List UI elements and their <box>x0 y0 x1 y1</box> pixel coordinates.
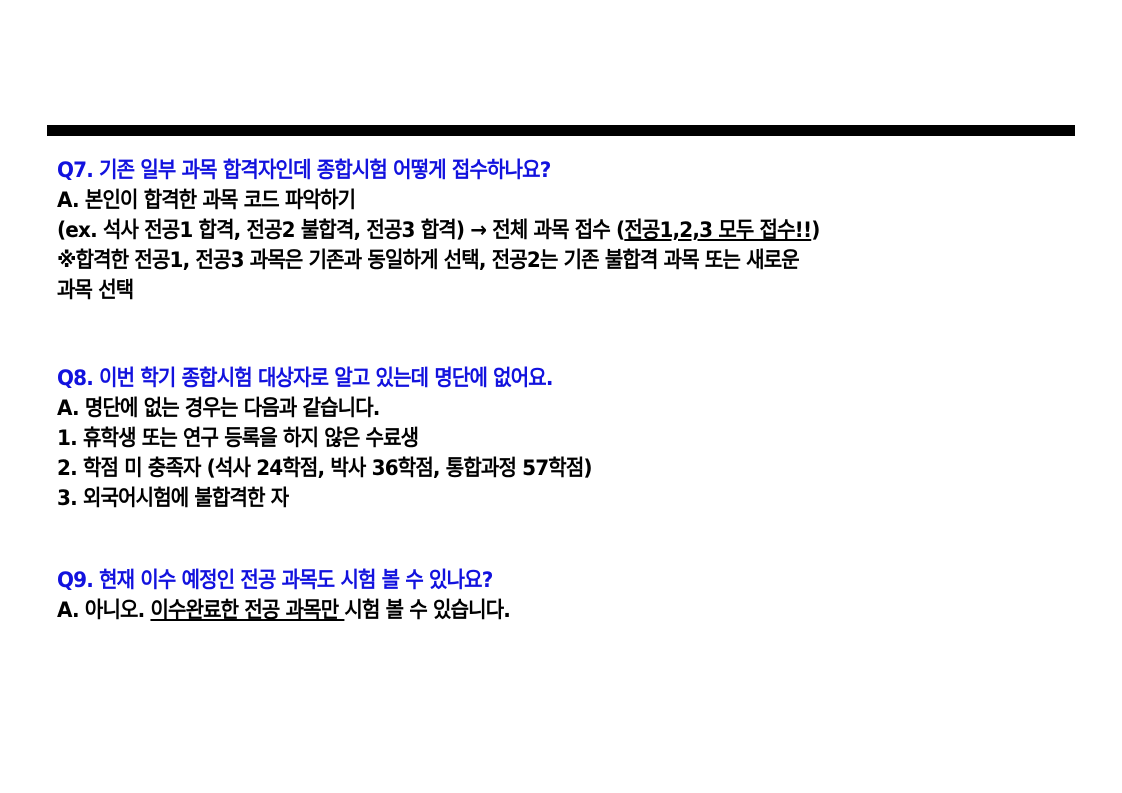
answer-seg-underlined: 이수완료한 전공 과목만 <box>150 598 344 623</box>
answer-seg-underlined: 전공1,2,3 모두 접수!! <box>624 218 811 243</box>
answer-line-q7-2: (ex. 석사 전공1 합격, 전공2 불합격, 전공3 합격) → 전체 과목… <box>57 216 1015 246</box>
answer-line-q7-3: ※합격한 전공1, 전공3 과목은 기존과 동일하게 선택, 전공2는 기존 불… <box>57 246 1015 276</box>
qa-block-q8: Q8. 이번 학기 종합시험 대상자로 알고 있는데 명단에 없어요. A. 명… <box>57 364 1087 514</box>
answer-line-q8-3: 2. 학점 미 충족자 (석사 24학점, 박사 36학점, 통합과정 57학점… <box>57 454 1015 484</box>
answer-line-q8-1: A. 명단에 없는 경우는 다음과 같습니다. <box>57 394 1015 424</box>
answer-seg-close-paren: ) <box>811 218 819 243</box>
answer-line-q7-4: 과목 선택 <box>57 276 1015 306</box>
answer-seg-suffix: 시험 볼 수 있습니다. <box>344 598 510 623</box>
question-heading-q8: Q8. 이번 학기 종합시험 대상자로 알고 있는데 명단에 없어요. <box>57 364 1015 394</box>
block-spacer-1 <box>57 306 1087 364</box>
top-divider-rule <box>47 125 1075 136</box>
question-heading-q7: Q7. 기존 일부 과목 합격자인데 종합시험 어떻게 접수하나요? <box>57 156 1015 186</box>
answer-line-q7-1: A. 본인이 합격한 과목 코드 파악하기 <box>57 186 1015 216</box>
answer-seg-plain: (ex. 석사 전공1 합격, 전공2 불합격, 전공3 합격) → 전체 과목… <box>57 218 624 243</box>
qa-block-q9: Q9. 현재 이수 예정인 전공 과목도 시험 볼 수 있나요? A. 아니오.… <box>57 566 1087 626</box>
slide-canvas: Q7. 기존 일부 과목 합격자인데 종합시험 어떻게 접수하나요? A. 본인… <box>0 0 1122 793</box>
faq-content: Q7. 기존 일부 과목 합격자인데 종합시험 어떻게 접수하나요? A. 본인… <box>57 156 1087 626</box>
answer-seg-prefix: A. 아니오. <box>57 598 150 623</box>
answer-line-q8-4: 3. 외국어시험에 불합격한 자 <box>57 484 1015 514</box>
block-spacer-2 <box>57 514 1087 566</box>
answer-line-q9-1: A. 아니오. 이수완료한 전공 과목만 시험 볼 수 있습니다. <box>57 596 1015 626</box>
question-heading-q9: Q9. 현재 이수 예정인 전공 과목도 시험 볼 수 있나요? <box>57 566 1015 596</box>
qa-block-q7: Q7. 기존 일부 과목 합격자인데 종합시험 어떻게 접수하나요? A. 본인… <box>57 156 1087 306</box>
answer-line-q8-2: 1. 휴학생 또는 연구 등록을 하지 않은 수료생 <box>57 424 1015 454</box>
